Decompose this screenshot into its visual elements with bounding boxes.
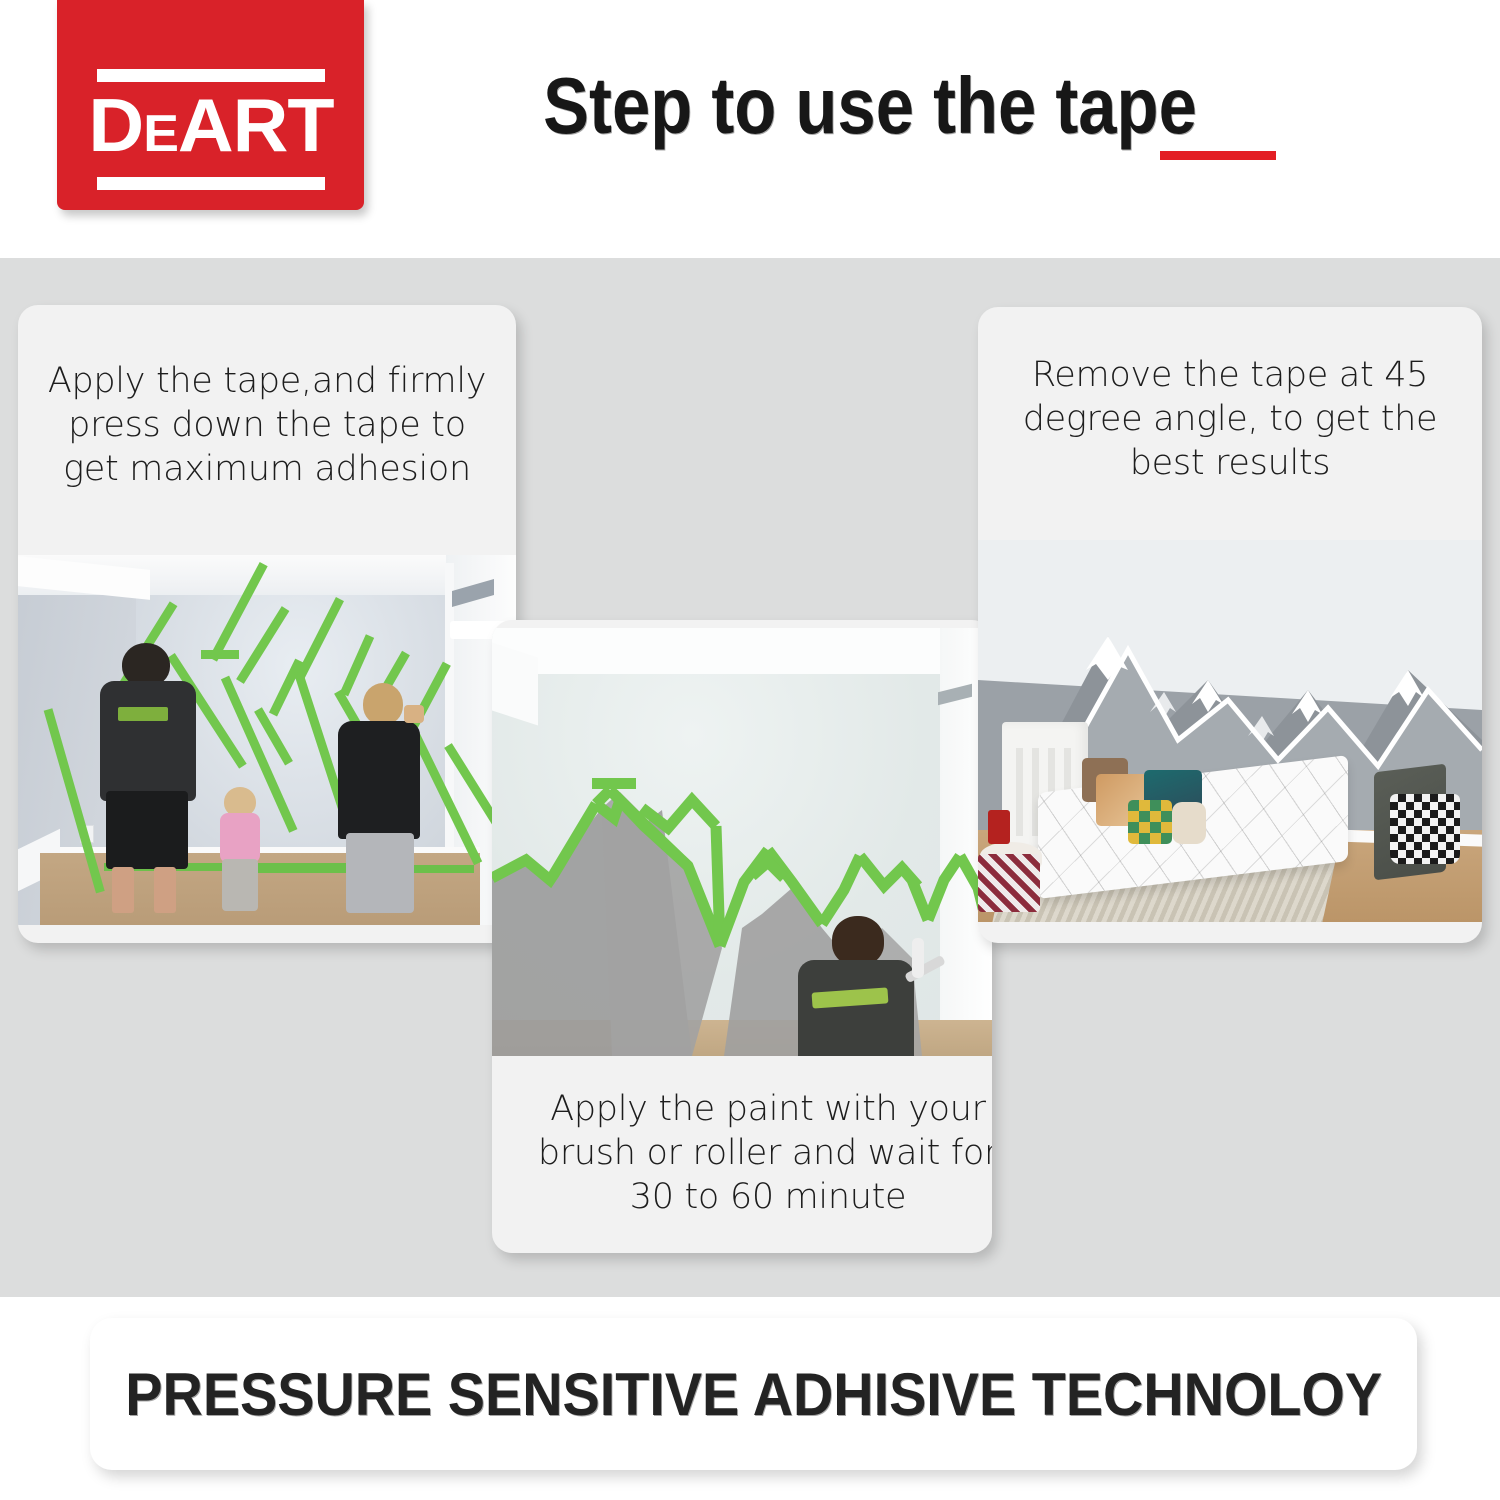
plush-toy: [1172, 802, 1206, 844]
step-3-caption: Remove the tape at 45 degree angle, to g…: [978, 307, 1482, 485]
pillow-patchwork: [1128, 800, 1172, 844]
logo-bar-top: [97, 69, 325, 82]
title-underline-accent: [1160, 151, 1276, 160]
technology-banner: PRESSURE SENSITIVE ADHISIVE TECHNOLOY: [90, 1318, 1417, 1470]
logo-wordmark: DEART: [88, 88, 333, 171]
page-title-wrap: Step to use the tape: [420, 58, 1320, 178]
brand-logo: DEART: [57, 0, 364, 210]
tape-outline: [492, 628, 992, 1056]
lantern-decor: [988, 810, 1010, 844]
step-3-photo: [978, 540, 1482, 922]
logo-letter-e: E: [143, 105, 178, 163]
logo-letter-d: D: [88, 83, 143, 167]
page-title: Step to use the tape: [483, 58, 1257, 154]
logo-bar-bottom: [97, 177, 325, 190]
plaid-basket: [1390, 794, 1460, 864]
logo-letters-art: ART: [177, 83, 333, 167]
step-card-3: Remove the tape at 45 degree angle, to g…: [978, 307, 1482, 943]
floral-hamper: [978, 854, 1040, 912]
step-1-photo: [18, 555, 516, 925]
technology-banner-text: PRESSURE SENSITIVE ADHISIVE TECHNOLOY: [125, 1360, 1382, 1429]
step-card-1: Apply the tape,and firmly press down the…: [18, 305, 516, 943]
page-header: DEART Step to use the tape: [0, 0, 1500, 258]
step-2-caption: Apply the paint with your brush or rolle…: [492, 1065, 992, 1219]
step-card-2: Apply the paint with your brush or rolle…: [492, 620, 992, 1253]
step-1-caption: Apply the tape,and firmly press down the…: [18, 305, 516, 491]
step-2-photo: [492, 628, 992, 1056]
